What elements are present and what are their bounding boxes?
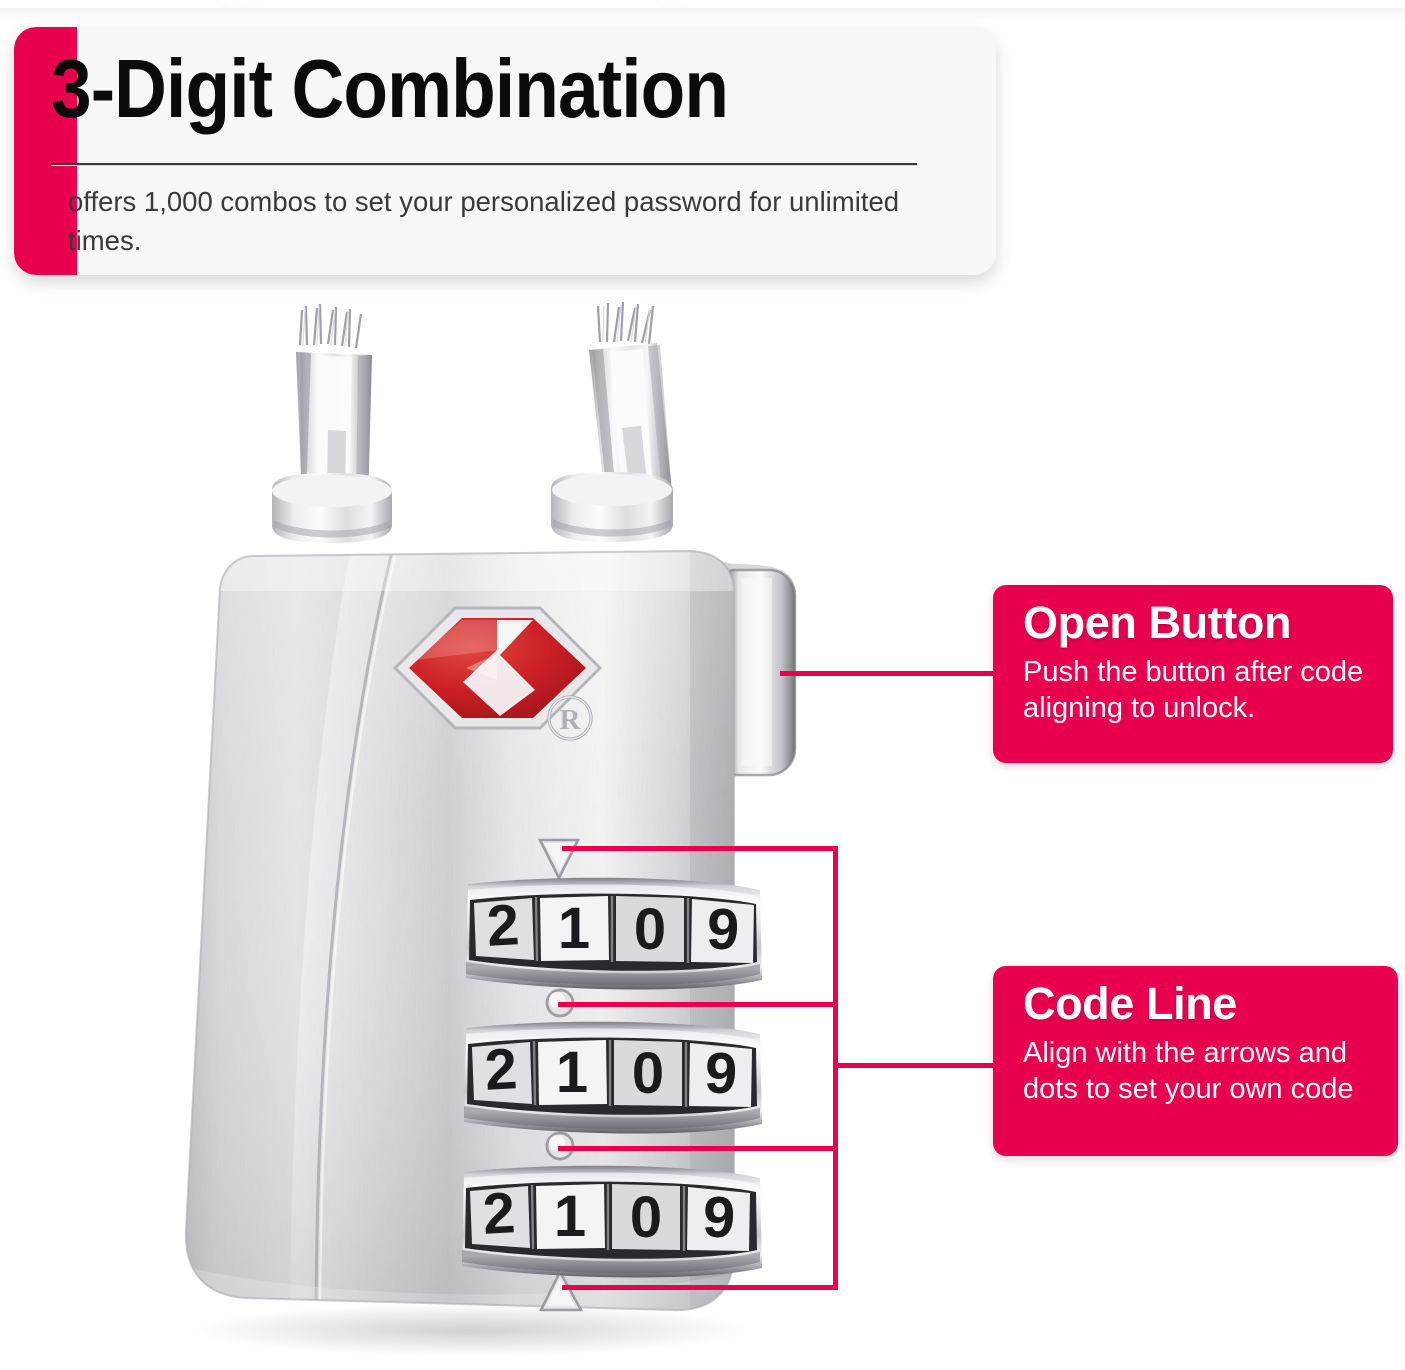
registered-trademark-icon: R xyxy=(549,697,591,739)
connector-branch-top-arrow xyxy=(562,846,838,851)
svg-text:9: 9 xyxy=(703,1040,739,1107)
svg-text:9: 9 xyxy=(701,1184,737,1251)
connector-open-button xyxy=(780,671,995,676)
svg-text:1: 1 xyxy=(556,1040,588,1105)
svg-text:1: 1 xyxy=(558,896,590,961)
svg-text:1: 1 xyxy=(554,1184,586,1249)
svg-text:0: 0 xyxy=(630,1185,662,1250)
dial-row-3: 2 1 0 9 xyxy=(462,1166,762,1278)
page-title: 3-Digit Combination xyxy=(51,47,728,130)
callout-code-line-text: Align with the arrows and dots to set yo… xyxy=(1023,1035,1376,1108)
svg-text:0: 0 xyxy=(632,1041,664,1106)
callout-open-button-title: Open Button xyxy=(1023,599,1371,647)
header-card: 3-Digit Combination offers 1,000 combos … xyxy=(14,27,996,275)
connector-trunk-code-line xyxy=(833,846,838,1290)
svg-text:9: 9 xyxy=(705,896,741,963)
header-subtitle: offers 1,000 combos to set your personal… xyxy=(68,182,938,260)
open-button xyxy=(660,561,796,775)
top-crop-text-right: ···· ·· xyxy=(662,0,686,10)
connector-code-line-callout xyxy=(833,1063,998,1068)
svg-text:2: 2 xyxy=(483,1036,519,1103)
header-divider xyxy=(51,163,917,166)
svg-text:0: 0 xyxy=(634,897,666,962)
connector-branch-bottom-arrow xyxy=(562,1285,838,1290)
top-crop-band xyxy=(0,8,1405,22)
callout-open-button-text: Push the button after code aligning to u… xyxy=(1023,654,1371,727)
bottom-arrow-marker xyxy=(541,1272,581,1310)
top-crop-text-left: ·· ···· ···· xyxy=(222,0,263,10)
connector-branch-dot-upper xyxy=(558,1002,838,1007)
lock-cable-left xyxy=(272,304,392,543)
svg-text:2: 2 xyxy=(481,1180,517,1247)
dial-row-2: 2 1 0 9 xyxy=(464,1022,762,1134)
svg-text:2: 2 xyxy=(485,892,521,959)
svg-text:R: R xyxy=(560,704,582,736)
callout-code-line-title: Code Line xyxy=(1023,980,1376,1028)
callout-code-line: Code Line Align with the arrows and dots… xyxy=(993,966,1398,1156)
infographic-canvas: ·· ···· ···· ···· ·· 3-Digit Combination… xyxy=(0,0,1405,1370)
lock-body xyxy=(180,545,750,1321)
connector-branch-dot-lower xyxy=(558,1146,838,1151)
dial-row-1: 2 1 0 9 xyxy=(466,878,762,990)
tsa-diamond-logo xyxy=(395,608,600,728)
callout-open-button: Open Button Push the button after code a… xyxy=(993,585,1393,763)
lock-cable-right xyxy=(551,302,673,542)
